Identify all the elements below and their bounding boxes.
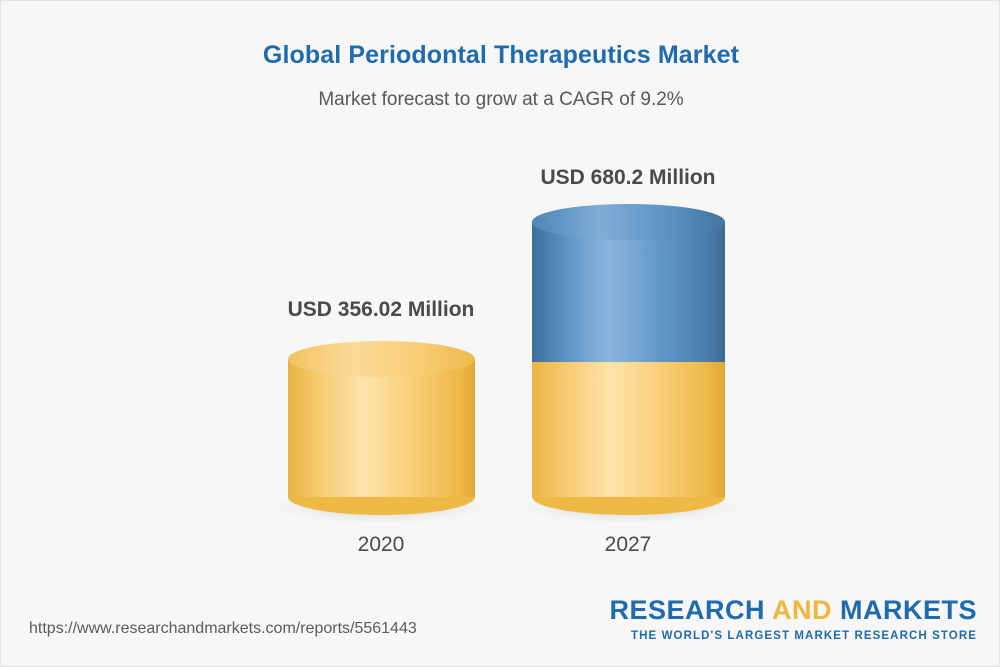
source-url[interactable]: https://www.researchandmarkets.com/repor… [29, 620, 417, 638]
researchandmarkets-logo[interactable]: RESEARCH AND MARKETS THE WORLD'S LARGEST… [609, 597, 977, 643]
bar-2027-top-ellipse [532, 204, 725, 240]
logo-tagline: THE WORLD'S LARGEST MARKET RESEARCH STOR… [609, 631, 977, 643]
logo-word-and: AND [772, 595, 832, 625]
bar-value-label-2027: USD 680.2 Million [478, 166, 778, 190]
bar-2020-top-ellipse [288, 341, 475, 377]
chart-canvas: Global Periodontal Therapeutics Market M… [0, 0, 1000, 667]
bar-2020-body [288, 359, 475, 497]
bar-2027-yellow-body [532, 359, 725, 497]
logo-word-research: RESEARCH [609, 595, 765, 625]
bar-2027 [532, 204, 725, 513]
bar-value-label-2020: USD 356.02 Million [231, 298, 531, 322]
bar-category-label-2027: 2027 [528, 533, 728, 557]
bar-2020 [288, 341, 475, 513]
bar-2027-blue-body [532, 222, 725, 362]
logo-wordmark: RESEARCH AND MARKETS [609, 597, 977, 624]
logo-word-markets: MARKETS [840, 595, 977, 625]
chart-plot-area: USD 356.02 Million USD 680.2 Million 202… [1, 1, 1000, 667]
bar-category-label-2020: 2020 [281, 533, 481, 557]
